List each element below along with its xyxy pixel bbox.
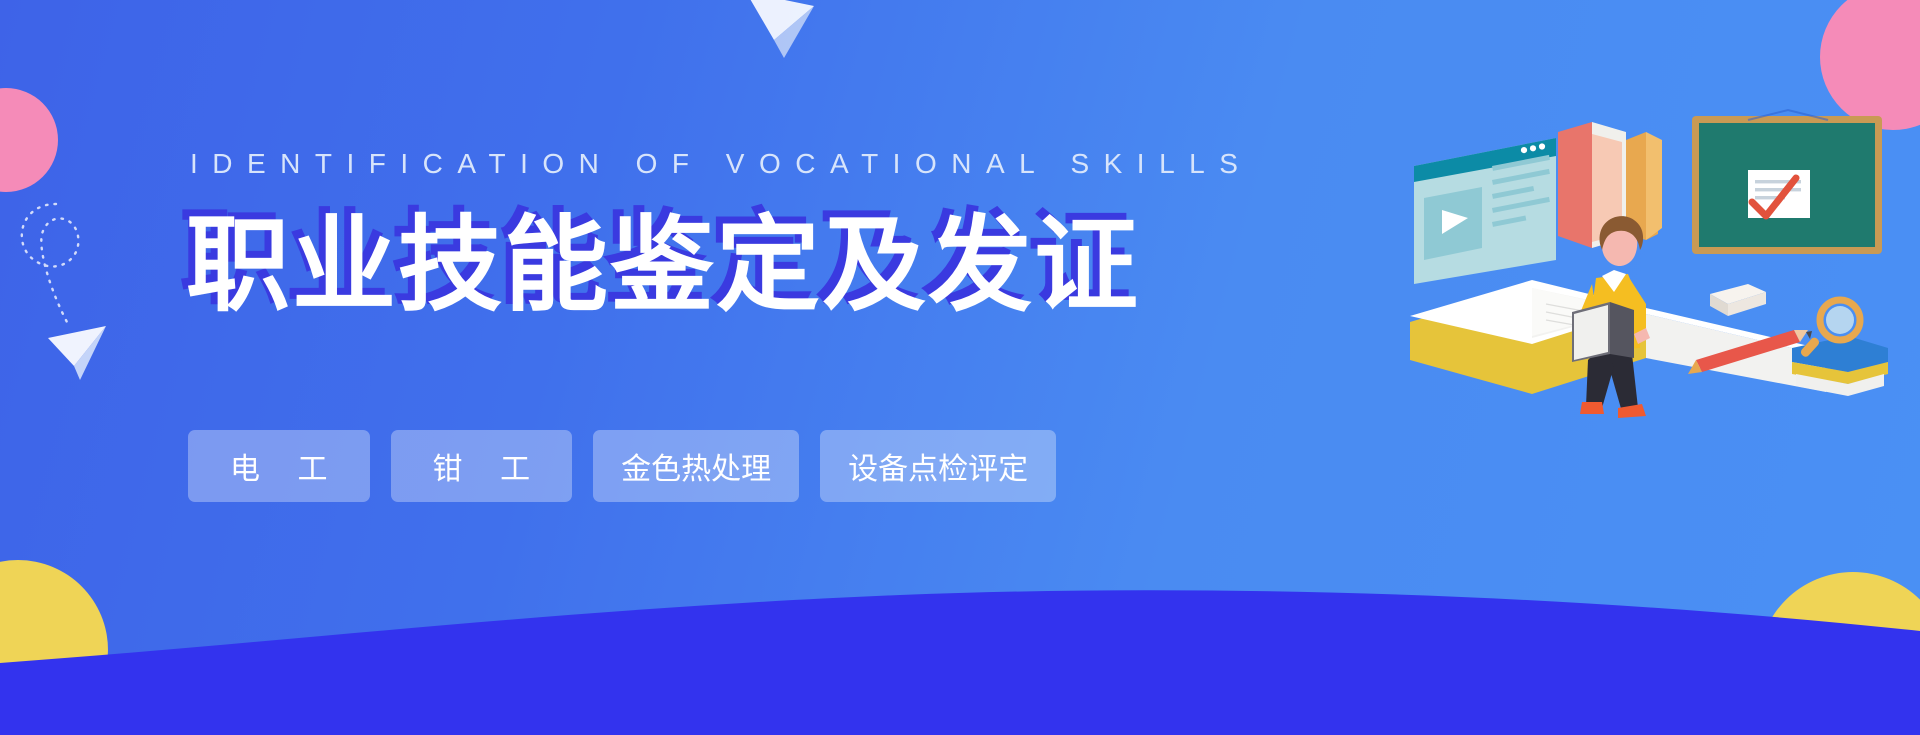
yellow-circle-bottom-right-icon bbox=[1758, 572, 1920, 735]
paper-plane-top-icon bbox=[740, 0, 822, 66]
bottom-wave-icon bbox=[0, 545, 1920, 735]
tag-heat-treatment[interactable]: 金色热处理 bbox=[593, 430, 799, 502]
tag-electrician[interactable]: 电 工 bbox=[188, 430, 370, 502]
tag-fitter[interactable]: 钳 工 bbox=[391, 430, 573, 502]
vocational-training-illustration bbox=[1396, 108, 1896, 438]
seated-person-icon bbox=[1572, 216, 1650, 418]
page-title: 职业技能鉴定及发证 bbox=[186, 206, 1286, 326]
english-subtitle: IDENTIFICATION OF VOCATIONAL SKILLS bbox=[190, 150, 1286, 178]
chalkboard-icon bbox=[1692, 110, 1882, 254]
tag-label: 钳 工 bbox=[419, 444, 545, 488]
browser-video-window-icon bbox=[1414, 138, 1556, 284]
dotted-loop-icon bbox=[8, 198, 104, 328]
paper-plane-left-icon bbox=[44, 322, 114, 388]
pink-circle-left-icon bbox=[0, 88, 58, 192]
eraser-icon bbox=[1710, 284, 1766, 316]
tag-label: 电 工 bbox=[216, 444, 342, 488]
tag-list: 电 工 钳 工 金色热处理 设备点检评定 bbox=[188, 430, 1056, 502]
vocational-skills-banner: IDENTIFICATION OF VOCATIONAL SKILLS 职业技能… bbox=[0, 0, 1920, 735]
tag-label: 金色热处理 bbox=[621, 444, 771, 488]
tag-equipment-inspection[interactable]: 设备点检评定 bbox=[820, 430, 1056, 502]
yellow-circle-bottom-left-icon bbox=[0, 560, 108, 735]
tag-label: 设备点检评定 bbox=[848, 444, 1028, 488]
banner-text-block: IDENTIFICATION OF VOCATIONAL SKILLS 职业技能… bbox=[186, 150, 1286, 326]
